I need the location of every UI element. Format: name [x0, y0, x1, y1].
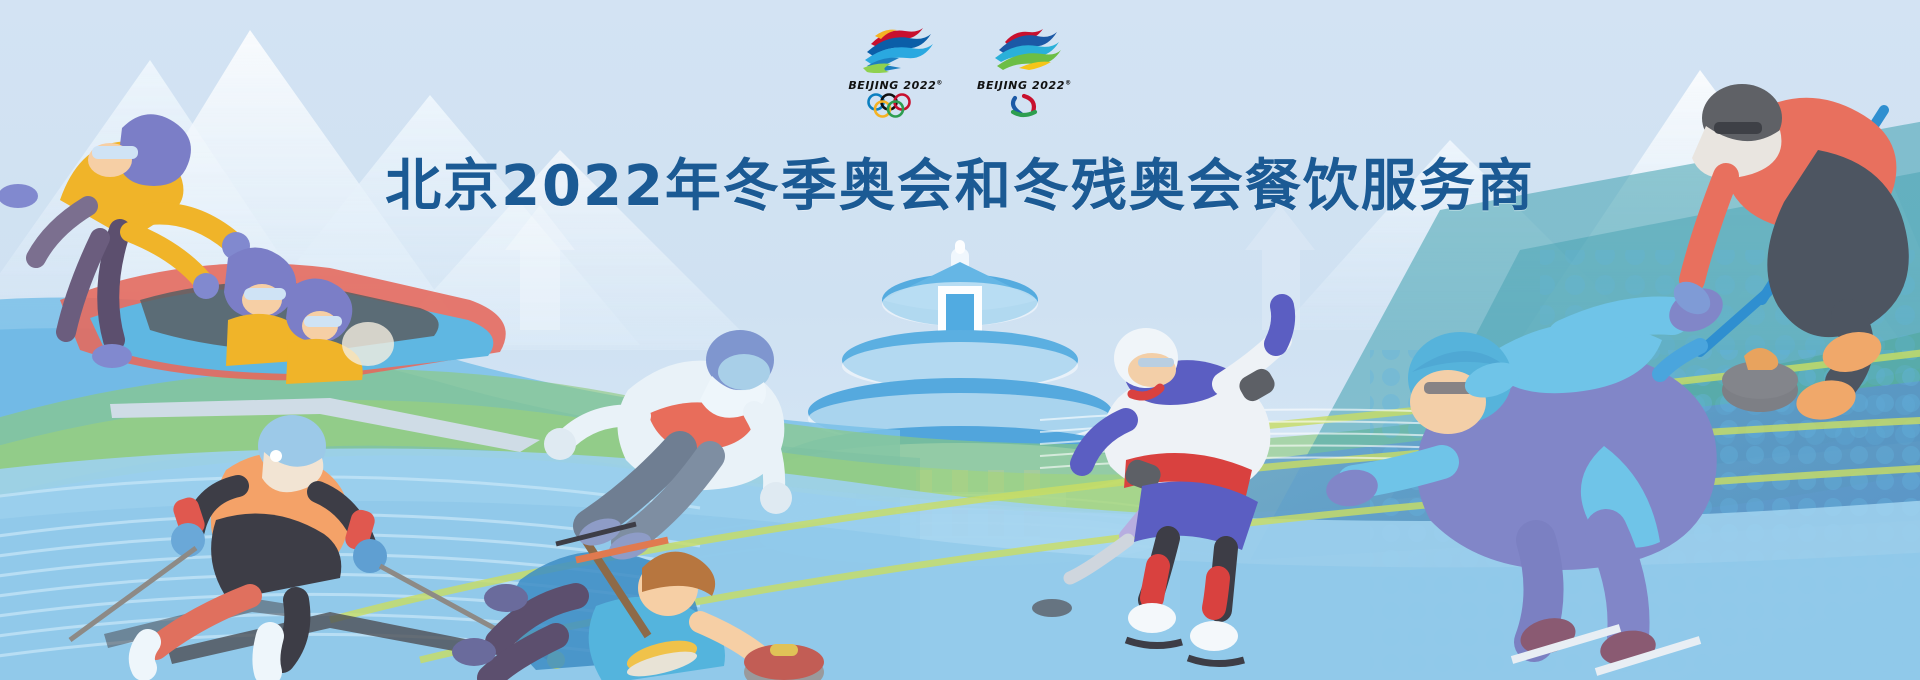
flying-high-symbol-icon: [985, 22, 1063, 78]
olympic-rings-icon: [865, 92, 927, 118]
beijing-2022-olympic-emblem: BEIJING 2022®: [848, 22, 943, 118]
olympics-catering-banner: BEIJING 2022® BE: [0, 0, 1920, 680]
agitos-icon: [993, 92, 1055, 118]
page-title-container: 北京2022年冬季奥会和冬残奥会餐饮服务商: [0, 118, 1920, 255]
page-title: 北京2022年冬季奥会和冬残奥会餐饮服务商: [385, 156, 1535, 218]
olympic-emblem-wordmark: BEIJING 2022®: [848, 79, 943, 92]
athlete-speed-skater-right: [1323, 280, 1730, 672]
winter-dream-symbol-icon: [857, 22, 935, 78]
athlete-ice-hockey-player: [1032, 306, 1283, 664]
beijing-2022-paralympic-emblem: BEIJING 2022®: [977, 22, 1072, 118]
paralympic-emblem-wordmark: BEIJING 2022®: [977, 79, 1072, 92]
athlete-speed-skater-left: [544, 330, 792, 565]
emblem-group: BEIJING 2022® BE: [0, 22, 1920, 118]
